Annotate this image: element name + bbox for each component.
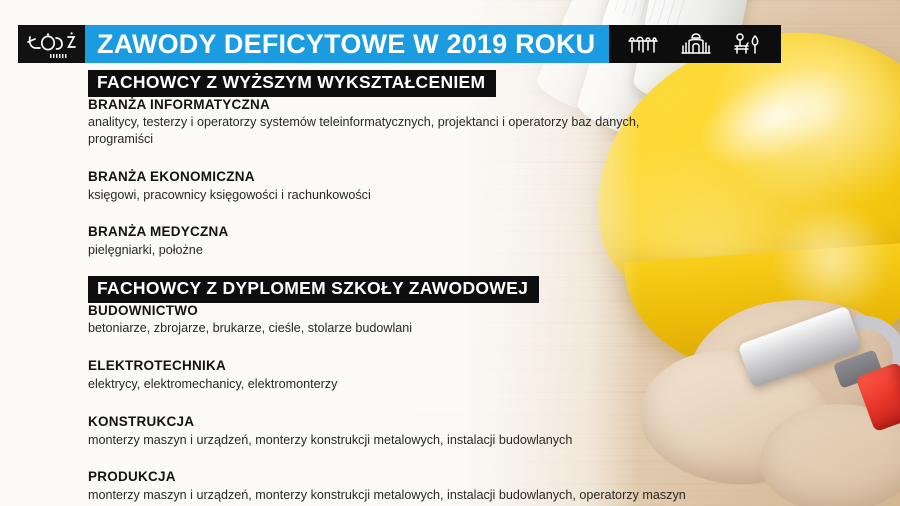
header-icon-group xyxy=(609,25,781,63)
content-column: FACHOWCY Z WYŻSZYM WYKSZTAŁCENIEM BRANŻA… xyxy=(88,70,728,506)
section-higher-education: FACHOWCY Z WYŻSZYM WYKSZTAŁCENIEM BRANŻA… xyxy=(88,70,728,259)
lodz-logo-caption xyxy=(50,54,68,58)
category-body: monterzy maszyn i urządzeń, monterzy kon… xyxy=(88,432,688,449)
section-vocational-diploma: FACHOWCY Z DYPLOMEM SZKOŁY ZAWODOWEJ BUD… xyxy=(88,276,728,506)
category-title: BRANŻA INFORMATYCZNA xyxy=(88,97,728,114)
category-medyczna: BRANŻA MEDYCZNA pielęgniarki, położne xyxy=(88,224,728,259)
category-title: BRANŻA EKONOMICZNA xyxy=(88,169,728,186)
category-title: BRANŻA MEDYCZNA xyxy=(88,224,728,241)
category-produkcja: PRODUKCJA monterzy maszyn i urządzeń, mo… xyxy=(88,469,728,506)
category-body: pielęgniarki, położne xyxy=(88,242,688,259)
category-body: księgowi, pracownicy księgowości i rachu… xyxy=(88,187,688,204)
section-heading: FACHOWCY Z DYPLOMEM SZKOŁY ZAWODOWEJ xyxy=(88,276,539,303)
infographic-poster: ZAWODY DEFICYTOWE W 2019 ROKU xyxy=(0,0,900,506)
lodz-logo-mark xyxy=(26,31,78,57)
category-title: KONSTRUKCJA xyxy=(88,414,728,431)
category-informatyczna: BRANŻA INFORMATYCZNA analitycy, testerzy… xyxy=(88,97,728,148)
category-elektrotechnika: ELEKTROTECHNIKA elektrycy, elektromechan… xyxy=(88,358,728,393)
page-title: ZAWODY DEFICYTOWE W 2019 ROKU xyxy=(97,31,595,58)
fountain-icon xyxy=(628,33,658,55)
category-body: monterzy maszyn i urządzeń, monterzy kon… xyxy=(88,487,688,506)
header: ZAWODY DEFICYTOWE W 2019 ROKU xyxy=(18,25,781,63)
lodz-logo xyxy=(18,25,85,63)
category-konstrukcja: KONSTRUKCJA monterzy maszyn i urządzeń, … xyxy=(88,414,728,449)
category-title: ELEKTROTECHNIKA xyxy=(88,358,728,375)
category-body: elektrycy, elektromechanicy, elektromont… xyxy=(88,376,688,393)
category-budownictwo: BUDOWNICTWO betoniarze, zbrojarze, bruka… xyxy=(88,303,728,338)
category-body: betoniarze, zbrojarze, brukarze, cieśle,… xyxy=(88,320,688,337)
park-bench-tree-icon xyxy=(734,33,762,55)
category-body: analitycy, testerzy i operatorzy systemó… xyxy=(88,114,688,147)
category-ekonomiczna: BRANŻA EKONOMICZNA księgowi, pracownicy … xyxy=(88,169,728,204)
pavilion-building-icon xyxy=(681,33,711,55)
poster-title-bar: ZAWODY DEFICYTOWE W 2019 ROKU xyxy=(85,25,609,63)
category-title: BUDOWNICTWO xyxy=(88,303,728,320)
category-title: PRODUKCJA xyxy=(88,469,728,486)
section-heading: FACHOWCY Z WYŻSZYM WYKSZTAŁCENIEM xyxy=(88,70,496,97)
